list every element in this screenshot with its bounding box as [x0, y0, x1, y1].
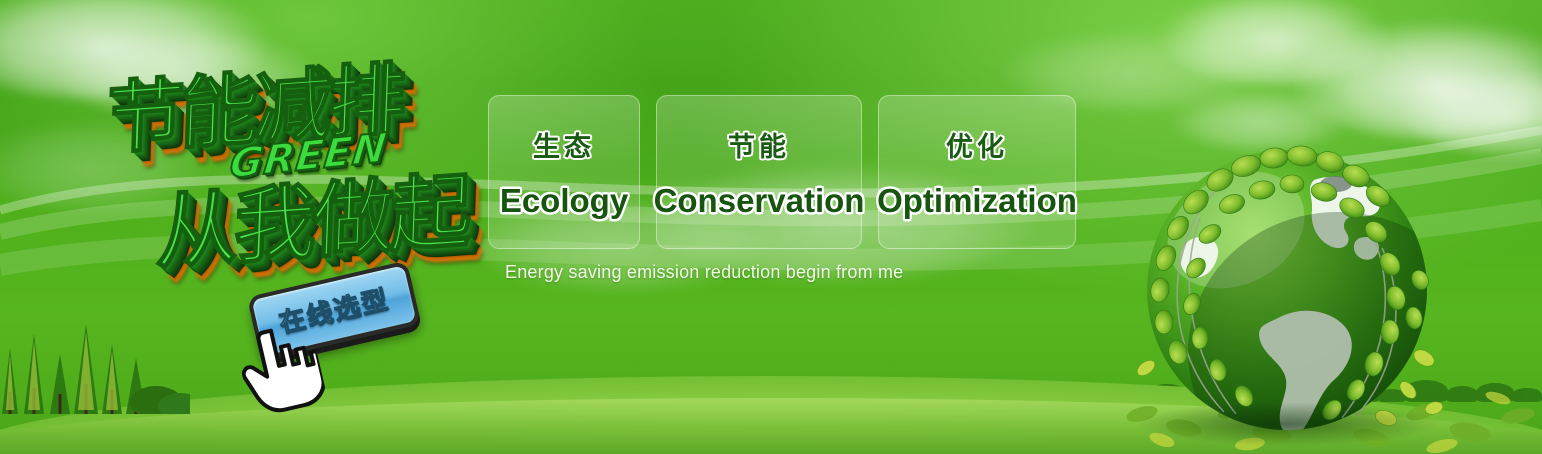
page-title: 节能减排 GREEN 从我做起: [96, 25, 501, 282]
headline-line-2: 从我做起: [155, 144, 470, 285]
eco-promo-banner: 节能减排 GREEN 从我做起 在线选型 生态 Ecology 节能 Conse…: [0, 0, 1542, 454]
feature-card-en-label: Ecology: [500, 182, 628, 220]
conifer-trees-icon: [0, 314, 190, 414]
feature-card-conservation[interactable]: 节能 Conservation: [656, 95, 862, 249]
leafy-globe-icon: [1128, 122, 1446, 440]
feature-card-ecology[interactable]: 生态 Ecology: [488, 95, 640, 249]
feature-card-cn-label: 优化: [946, 125, 1008, 164]
feature-card-optimization[interactable]: 优化 Optimization: [878, 95, 1076, 249]
feature-card-en-label: Conservation: [654, 182, 865, 220]
globe-graphic: [1128, 122, 1446, 440]
feature-card-en-label: Optimization: [877, 182, 1077, 220]
feature-card-cn-label: 节能: [728, 125, 790, 164]
feature-card-list: 生态 Ecology 节能 Conservation 优化 Optimizati…: [488, 95, 1076, 249]
banner-subtitle: Energy saving emission reduction begin f…: [505, 262, 903, 283]
globe-shadow: [1134, 402, 1440, 446]
feature-card-cn-label: 生态: [533, 125, 595, 164]
